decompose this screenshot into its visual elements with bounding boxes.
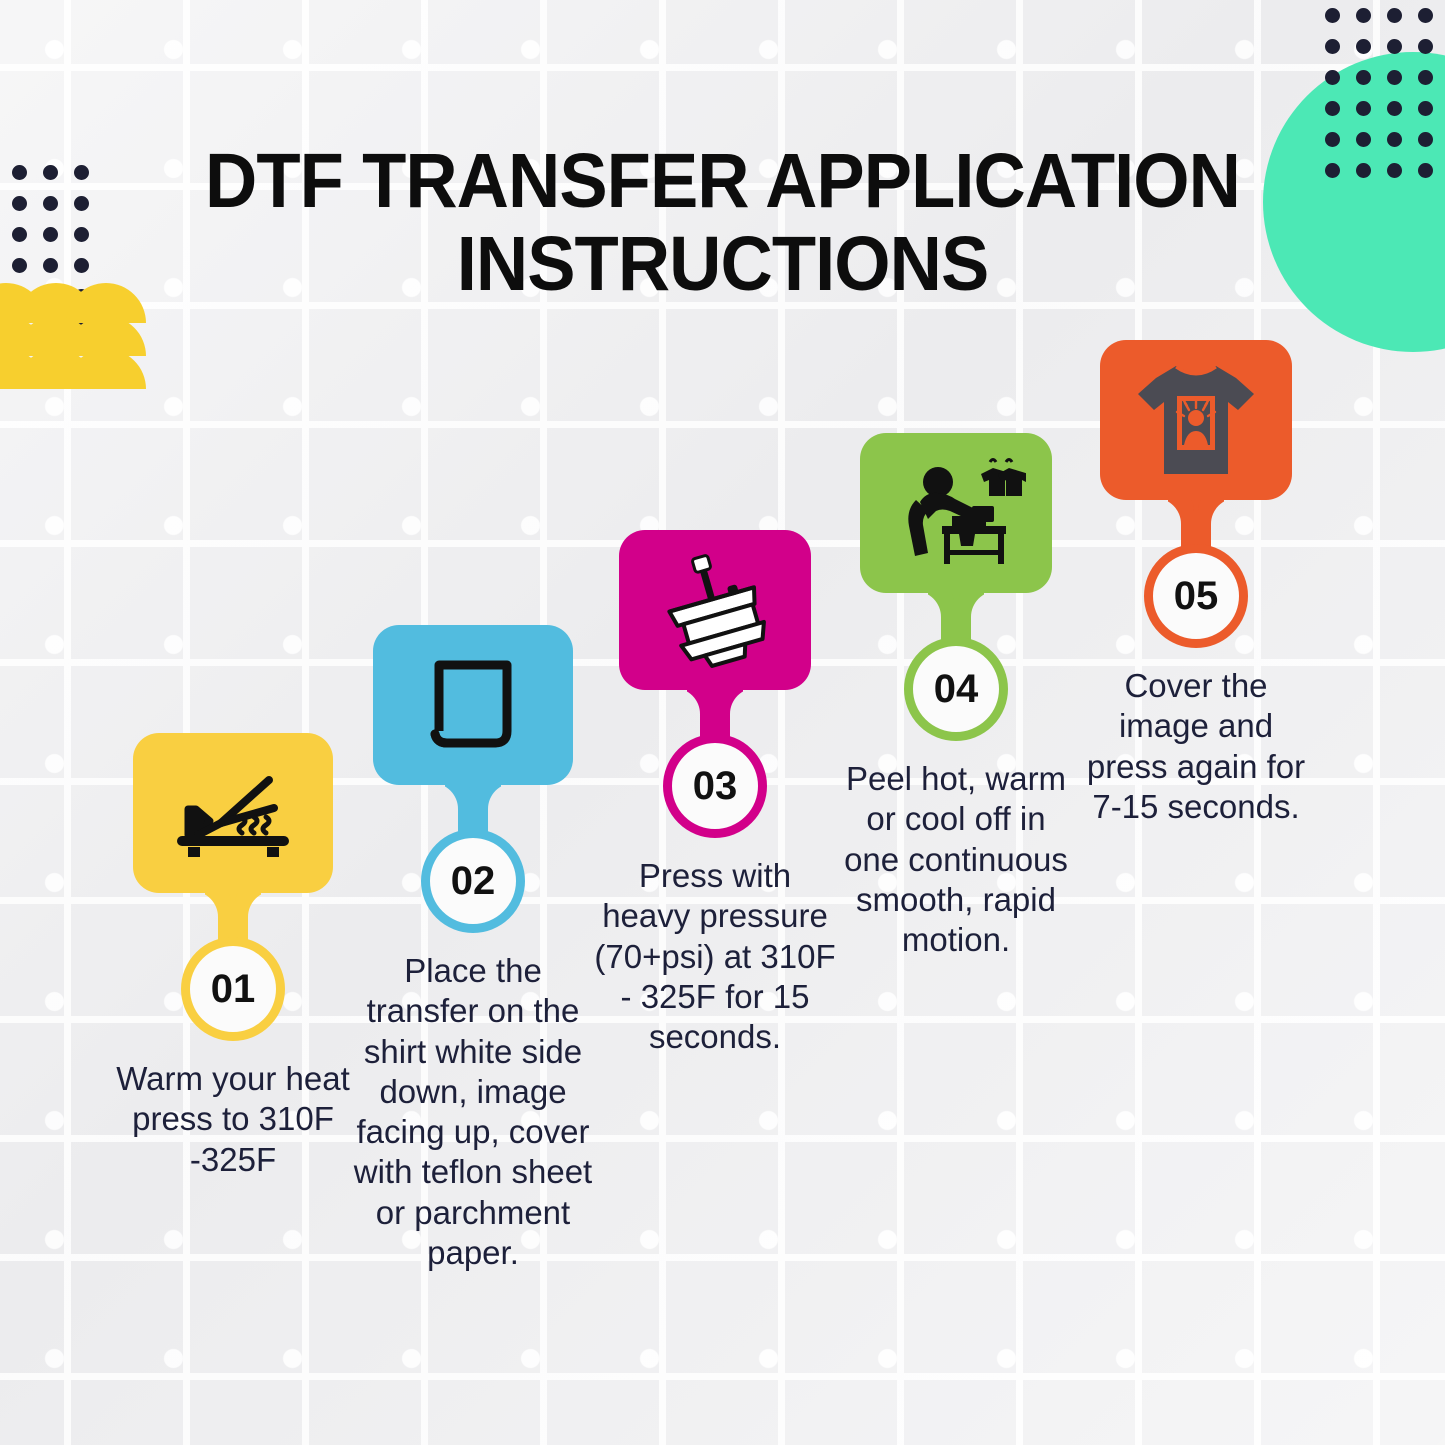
step-5-pin: 05 bbox=[1071, 498, 1321, 658]
step-5-description: Cover the image and press again for 7-15… bbox=[1071, 666, 1321, 827]
step-item-3: 03 Press with heavy pressure (70+psi) at… bbox=[590, 530, 840, 1057]
step-3-number-badge: 03 bbox=[663, 734, 767, 838]
infographic-canvas: DTF TRANSFER APPLICATION INSTRUCTIONS bbox=[0, 0, 1445, 1445]
step-5-icon-card bbox=[1100, 340, 1292, 500]
step-1-icon-card bbox=[133, 733, 333, 893]
step-5-number: 05 bbox=[1174, 574, 1219, 619]
heat-press-open-icon bbox=[174, 765, 292, 861]
step-5-number-badge: 05 bbox=[1144, 544, 1248, 648]
step-1-pin: 01 bbox=[108, 891, 358, 1051]
step-item-2: 02 Place the transfer on the shirt white… bbox=[348, 625, 598, 1273]
step-2-icon-card bbox=[373, 625, 573, 785]
step-1-description: Warm your heat press to 310F -325F bbox=[108, 1059, 358, 1180]
step-1-number: 01 bbox=[211, 967, 256, 1012]
step-4-number-badge: 04 bbox=[904, 637, 1008, 741]
step-2-number-badge: 02 bbox=[421, 829, 525, 933]
step-2-number: 02 bbox=[451, 859, 496, 904]
transfer-sheet-icon bbox=[421, 653, 525, 757]
peeling-person-icon bbox=[886, 454, 1026, 572]
step-3-number: 03 bbox=[693, 764, 738, 809]
step-3-pin: 03 bbox=[590, 688, 840, 848]
step-4-icon-card bbox=[860, 433, 1052, 593]
step-4-description: Peel hot, warm or cool off in one contin… bbox=[831, 759, 1081, 960]
step-item-4: 04 Peel hot, warm or cool off in one con… bbox=[831, 433, 1081, 960]
step-2-pin: 02 bbox=[348, 783, 598, 943]
printed-tshirt-icon bbox=[1132, 358, 1260, 482]
step-1-number-badge: 01 bbox=[181, 937, 285, 1041]
step-item-1: 01 Warm your heat press to 310F -325F bbox=[108, 733, 358, 1180]
step-item-5: 05 Cover the image and press again for 7… bbox=[1071, 340, 1321, 827]
heat-press-machine-icon bbox=[655, 551, 775, 669]
step-4-pin: 04 bbox=[831, 591, 1081, 751]
steps-container: 01 Warm your heat press to 310F -325F bbox=[0, 0, 1445, 1445]
step-4-number: 04 bbox=[934, 667, 979, 712]
step-3-icon-card bbox=[619, 530, 811, 690]
step-2-description: Place the transfer on the shirt white si… bbox=[348, 951, 598, 1273]
step-3-description: Press with heavy pressure (70+psi) at 31… bbox=[590, 856, 840, 1057]
